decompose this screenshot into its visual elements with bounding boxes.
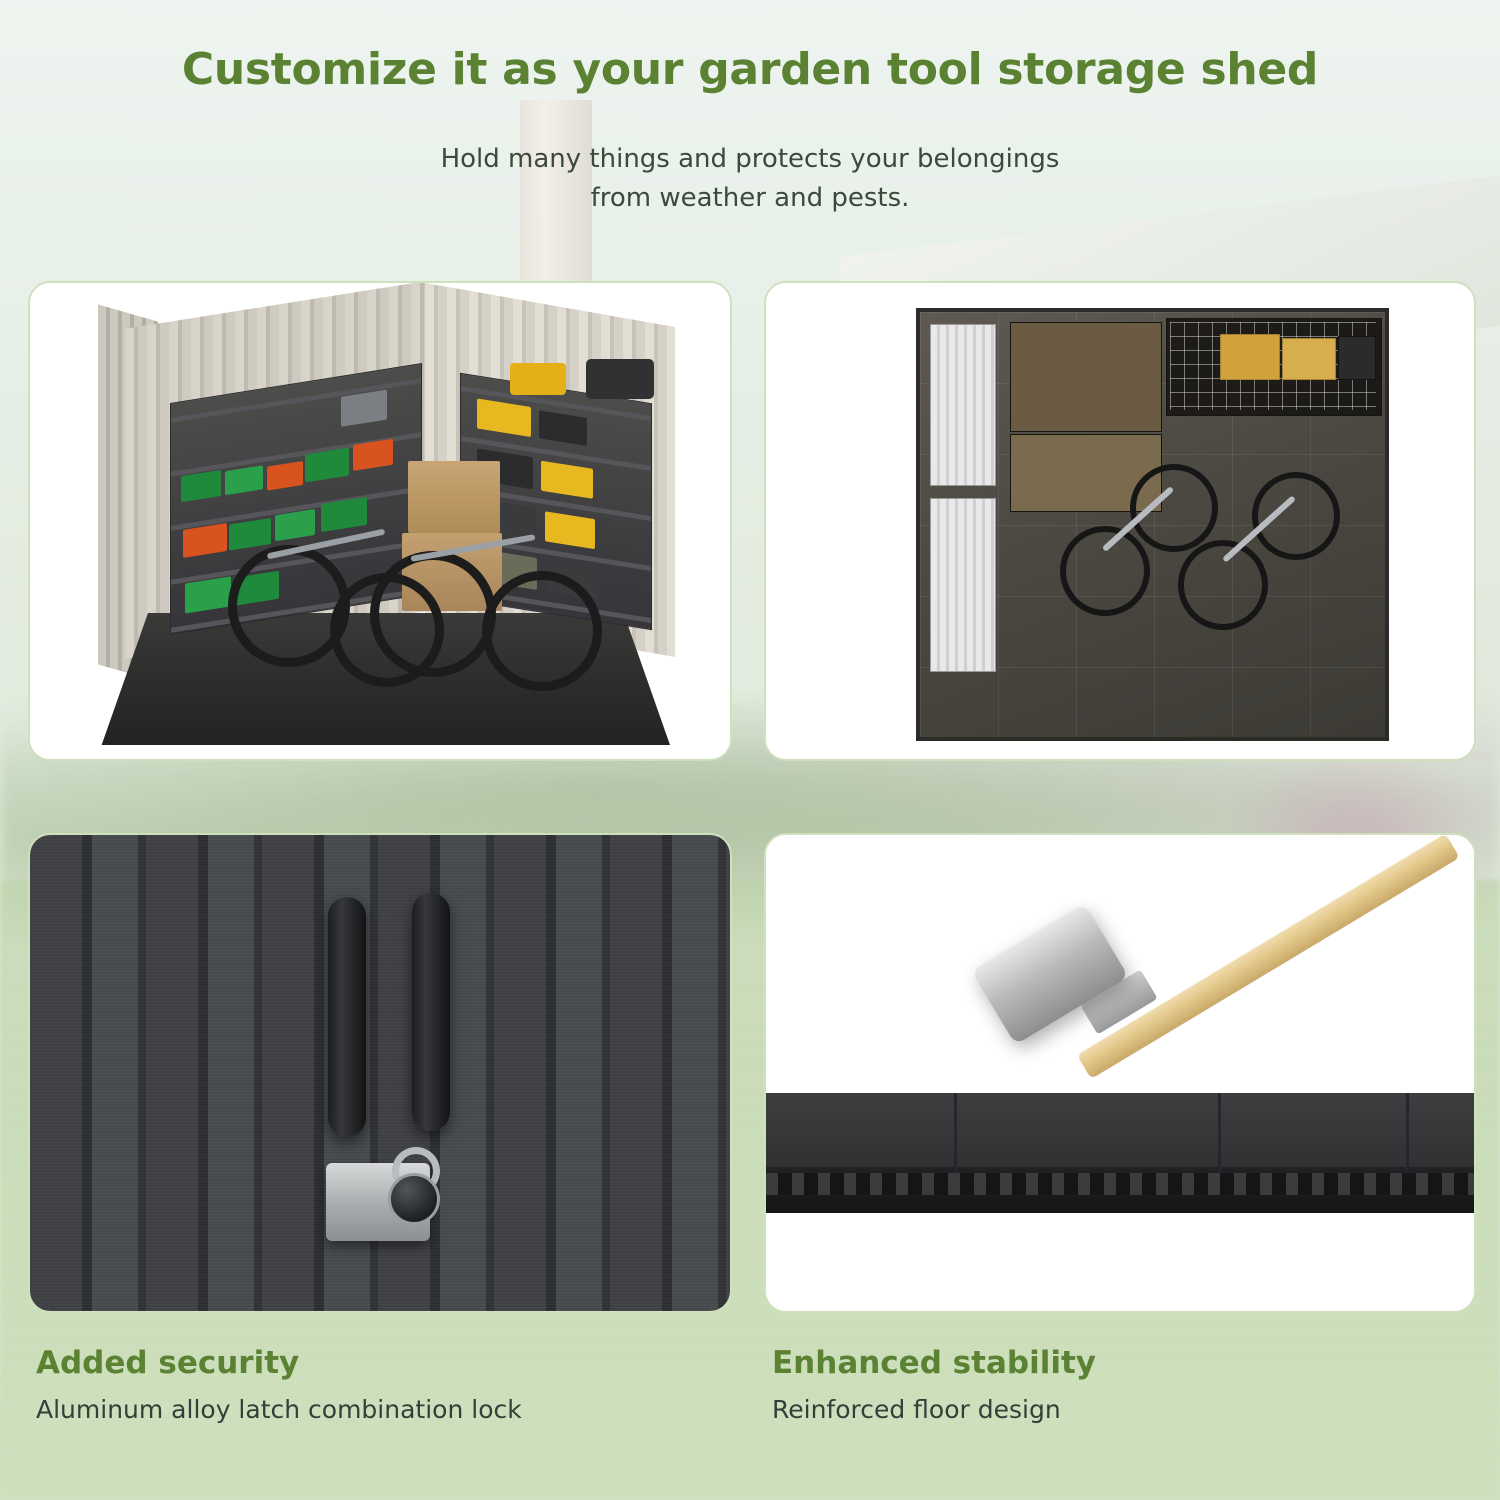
shed-floor-plan <box>916 308 1389 741</box>
shed-top-down-photo <box>766 283 1474 759</box>
tool-case-black <box>586 359 654 399</box>
shelf-block-back <box>1010 322 1162 432</box>
door-panel-bottom <box>930 498 996 672</box>
caption-subtext: Aluminum alloy latch combination lock <box>36 1395 736 1424</box>
floor-reinforcement-ribs <box>766 1173 1474 1195</box>
bike-wheel-a2 <box>1130 464 1218 552</box>
caption-added-security: Added security Aluminum alloy latch comb… <box>36 1345 736 1424</box>
bike-wheel-b2 <box>1252 472 1340 560</box>
floor-panel-seam-3 <box>1406 1093 1409 1173</box>
floor-panel-surface <box>766 1093 1474 1167</box>
shed-interior-photo <box>30 283 730 759</box>
door-handle-left <box>328 897 366 1137</box>
card-door-lock <box>28 833 732 1313</box>
floor-panel-seam-1 <box>954 1093 957 1173</box>
stored-item-gold-1 <box>1220 334 1280 380</box>
door-panel-top <box>930 324 996 486</box>
floor-strength-photo <box>766 835 1474 1311</box>
promo-page: Customize it as your garden tool storage… <box>0 0 1500 1500</box>
card-floor-plan <box>764 281 1476 761</box>
bicycle-rear-wheel-2 <box>370 551 496 677</box>
combination-dial <box>388 1173 440 1225</box>
bike-wheel-a1 <box>1060 526 1150 616</box>
stored-item-dark <box>1338 336 1376 380</box>
caption-subtext: Reinforced floor design <box>772 1395 1472 1424</box>
page-subtitle: Hold many things and protects your belon… <box>0 140 1500 218</box>
card-shed-interior <box>28 281 732 761</box>
stored-item-gold-2 <box>1282 338 1336 380</box>
door-lock-photo <box>30 835 730 1311</box>
page-title: Customize it as your garden tool storage… <box>0 44 1500 95</box>
caption-enhanced-stability: Enhanced stability Reinforced floor desi… <box>772 1345 1472 1424</box>
page-subtitle-line-1: Hold many things and protects your belon… <box>0 140 1500 179</box>
caption-heading: Added security <box>36 1345 736 1381</box>
caption-heading: Enhanced stability <box>772 1345 1472 1381</box>
floor-panel-seam-2 <box>1218 1093 1221 1173</box>
bike-wheel-b1 <box>1178 540 1268 630</box>
card-floor-strength <box>764 833 1476 1313</box>
bicycle-rear-wheel-1 <box>228 545 350 667</box>
door-handle-right <box>412 893 450 1131</box>
cardboard-box-stack <box>408 461 500 533</box>
bicycle-front-wheel-2 <box>482 571 602 691</box>
tool-case-yellow <box>510 363 566 395</box>
page-subtitle-line-2: from weather and pests. <box>0 179 1500 218</box>
